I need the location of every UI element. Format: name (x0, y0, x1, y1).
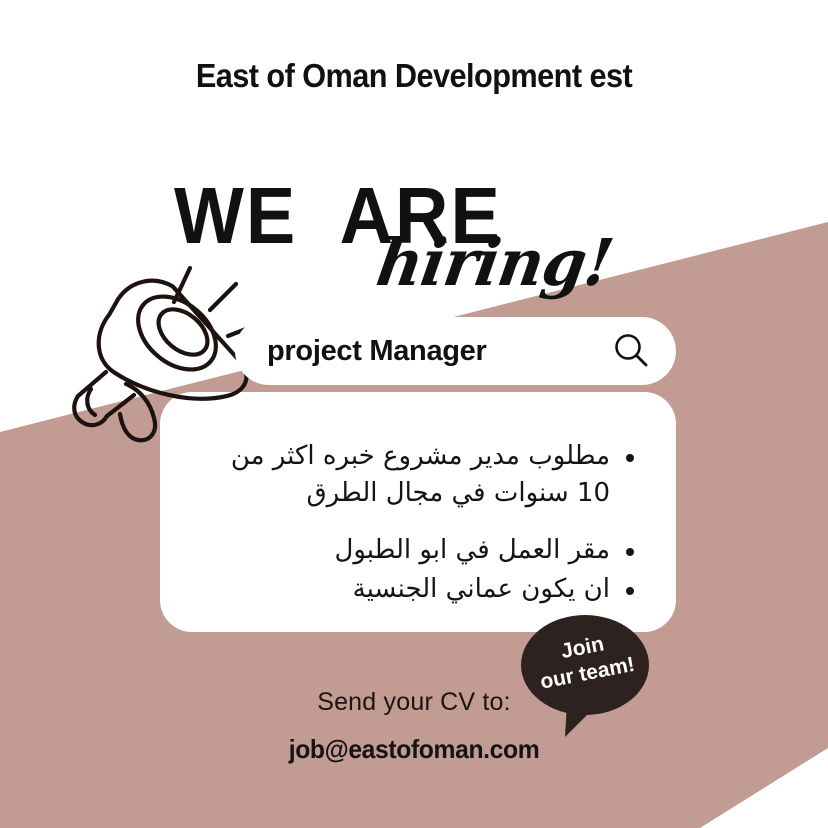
poster-canvas: East of Oman Development est WE ARE hiri… (0, 0, 828, 828)
hero-line-hiring: hiring! (373, 231, 617, 295)
list-item: مطلوب مدير مشروع خبره اكثر من 10 سنوات ف… (200, 438, 636, 512)
page-title: East of Oman Development est (29, 57, 799, 95)
search-input[interactable]: project Manager (267, 335, 487, 368)
list-item: مقر العمل في ابو الطبول (200, 532, 636, 569)
list-item: ان يكون عماني الجنسية (200, 571, 636, 608)
search-bar[interactable]: project Manager (235, 317, 676, 385)
requirements-list: مطلوب مدير مشروع خبره اكثر من 10 سنوات ف… (200, 438, 636, 608)
join-our-team-badge[interactable]: Join our team! (521, 613, 649, 739)
send-cv-label: Send your CV to: (0, 688, 828, 717)
speech-bubble-icon (521, 613, 649, 739)
search-icon[interactable] (612, 332, 650, 370)
contact-email[interactable]: job@eastofoman.com (21, 734, 808, 765)
contact-block: Send your CV to: job@eastofoman.com (0, 688, 828, 765)
